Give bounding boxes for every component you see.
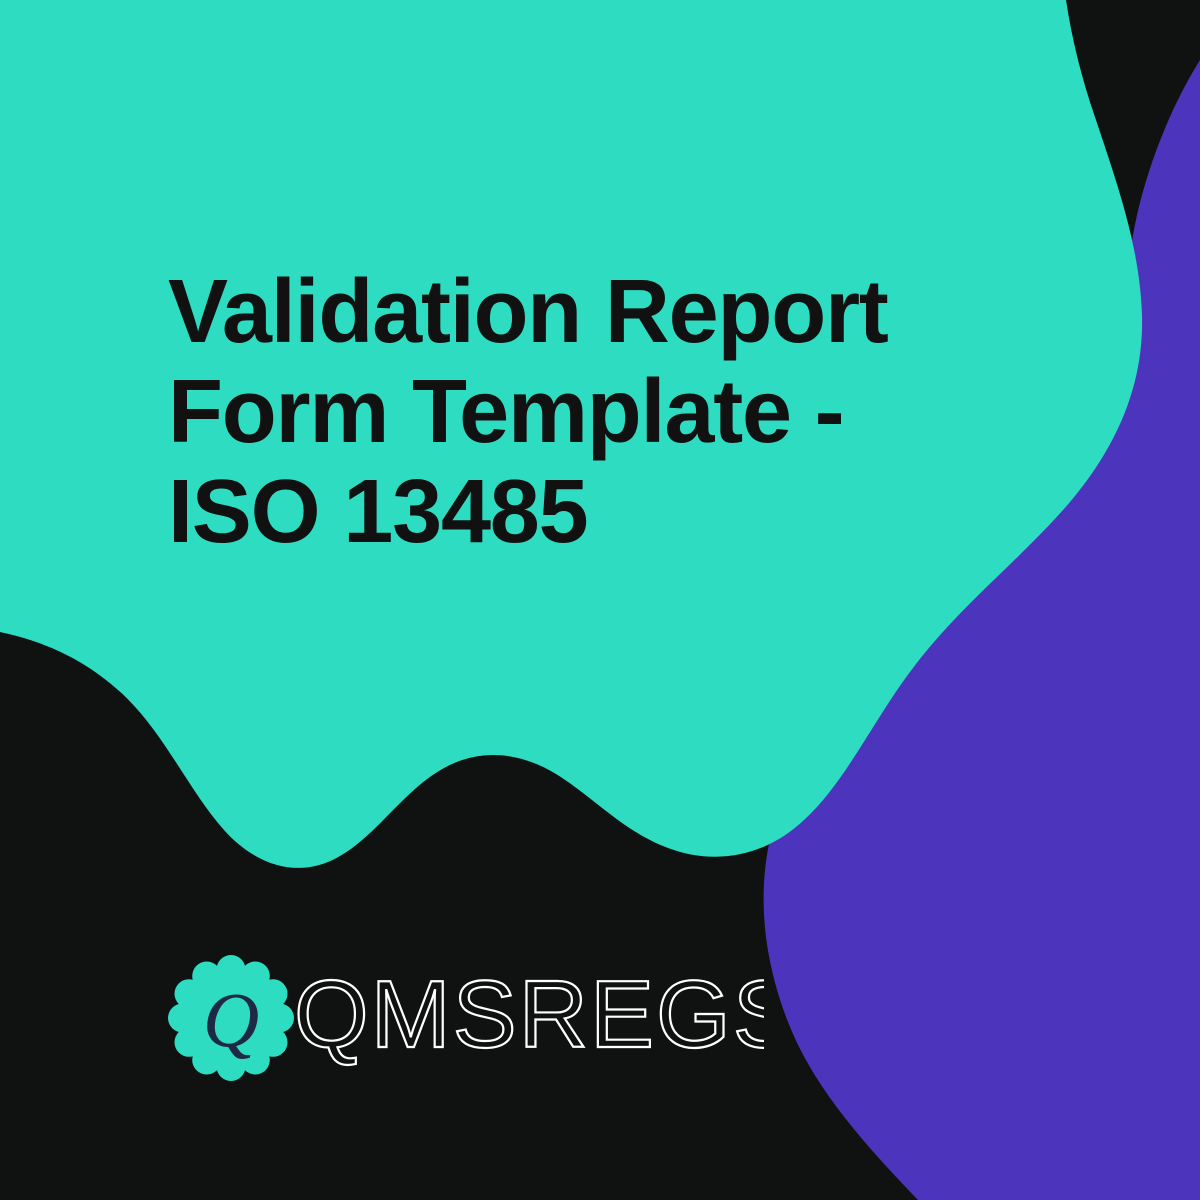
cover-canvas: Validation Report Form Template - ISO 13…	[0, 0, 1200, 1200]
wordmark-svg: QMSREGS	[294, 963, 764, 1073]
brand-badge: Q	[168, 955, 294, 1081]
wordmark-text: QMSREGS	[294, 963, 764, 1068]
scalloped-badge-icon: Q	[168, 955, 294, 1081]
brand-lockup: Q QMSREGS	[168, 945, 808, 1090]
wordmark: QMSREGS	[294, 963, 764, 1073]
page-title: Validation Report Form Template - ISO 13…	[168, 262, 928, 562]
title-block: Validation Report Form Template - ISO 13…	[168, 262, 928, 562]
badge-monogram: Q	[203, 976, 259, 1063]
